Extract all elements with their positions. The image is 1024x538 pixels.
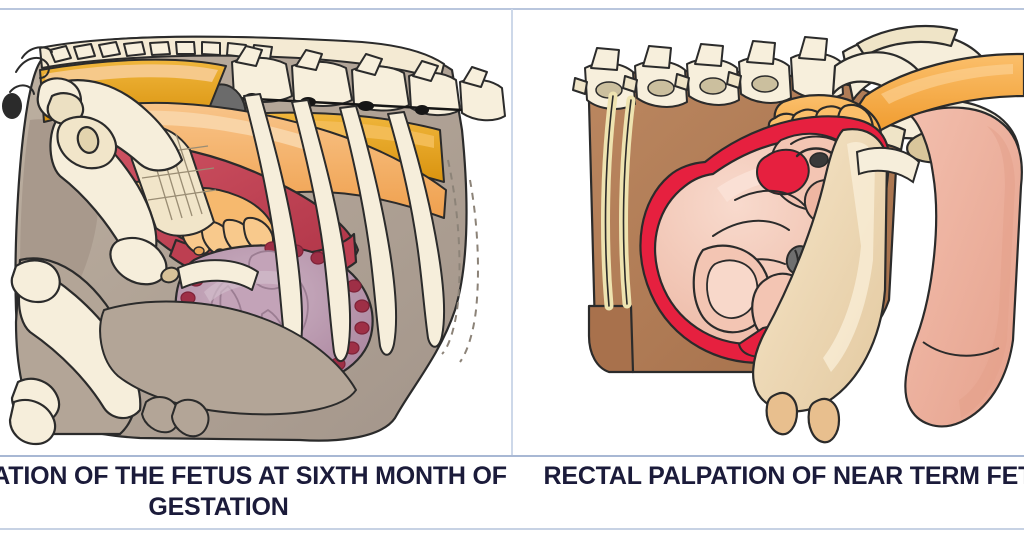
teat-2	[809, 399, 839, 442]
caption-band: PALPATION OF THE FETUS AT SIXTH MONTH OF…	[0, 457, 1024, 528]
tail-base-dark	[2, 93, 22, 119]
teat-1	[767, 393, 797, 434]
tibia-proximal	[12, 260, 60, 302]
caption-right: RECTAL PALPATION OF NEAR TERM FETUS	[513, 457, 1024, 528]
abdominal-wall-lower-step	[589, 306, 633, 372]
figure-left-illustration	[0, 10, 511, 455]
figure-page: PALPATION OF THE FETUS AT SIXTH MONTH OF…	[0, 0, 1024, 538]
caption-left: PALPATION OF THE FETUS AT SIXTH MONTH OF…	[0, 457, 511, 528]
bottom-divider-rule	[0, 528, 1024, 530]
caption-right-text: RECTAL PALPATION OF NEAR TERM FETUS	[543, 461, 1024, 492]
figure-right-illustration	[513, 10, 1024, 455]
fetus-ear	[757, 150, 809, 195]
fetus-forelimb-inner	[707, 260, 757, 318]
caption-left-text: PALPATION OF THE FETUS AT SIXTH MONTH OF…	[0, 461, 511, 523]
